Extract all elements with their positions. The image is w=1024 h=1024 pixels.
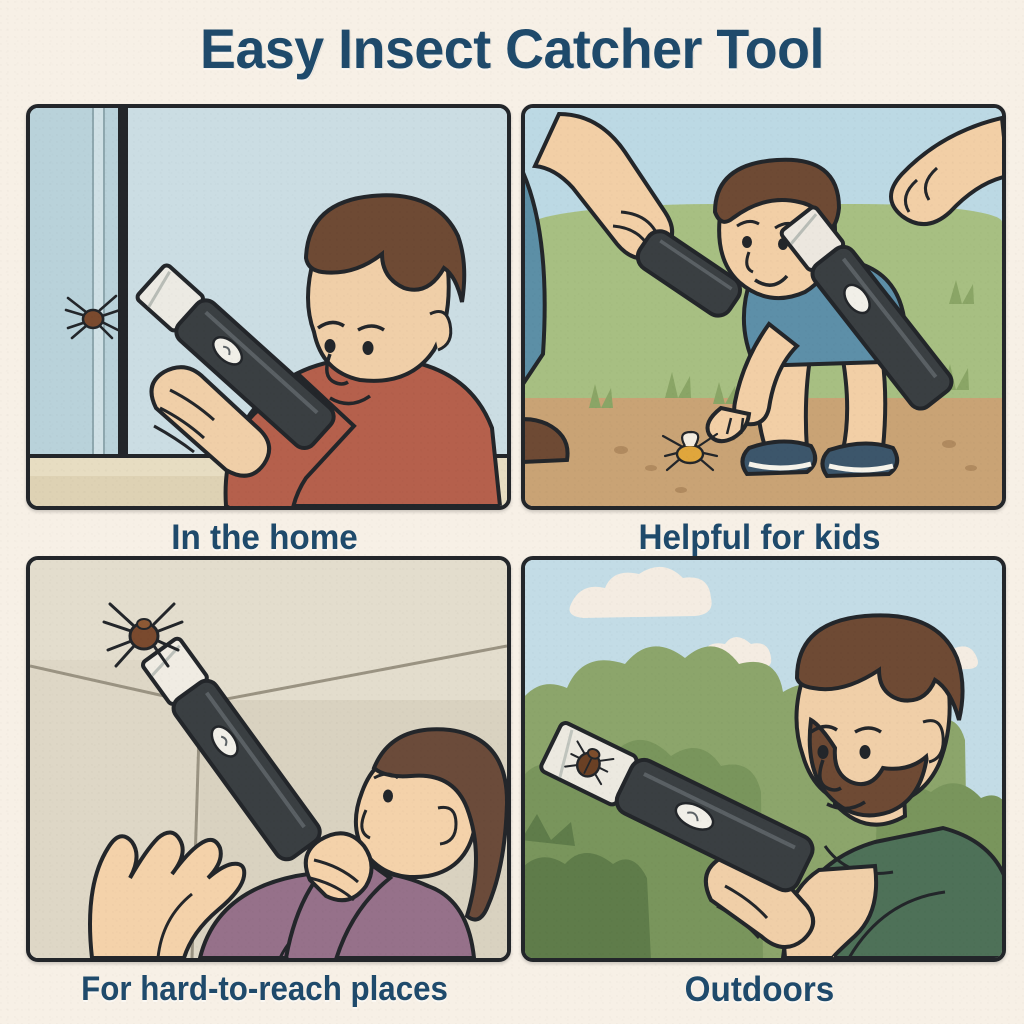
panel-image-for-hard-to-reach-places: [26, 556, 511, 962]
panel-grid: In the home: [0, 96, 1024, 1024]
ground-insect: [663, 432, 717, 470]
infographic-root: Easy Insect Catcher Tool: [0, 0, 1024, 1024]
adult-arm-left: [535, 114, 745, 321]
eye-right: [363, 341, 374, 355]
panel2-artwork: [525, 108, 1002, 506]
panel-image-in-the-home: [26, 104, 511, 510]
adult-leg: [525, 168, 568, 464]
panel-caption-outdoors: Outdoors: [533, 972, 986, 1009]
panel-caption-in-the-home: In the home: [38, 520, 491, 557]
panel4-artwork: [525, 560, 1002, 958]
eye: [383, 790, 393, 803]
panel3-artwork: [30, 560, 507, 958]
panel-caption-helpful-for-kids: Helpful for kids: [533, 520, 986, 557]
panel-caption-for-hard-to-reach-places: For hard-to-reach places: [45, 972, 484, 1008]
eye-left: [818, 745, 829, 759]
eye-left: [325, 339, 336, 353]
insect-catcher-tool: [139, 636, 324, 864]
tool-body: [169, 676, 325, 864]
page-title: Easy Insect Catcher Tool: [20, 16, 1003, 81]
panel-in-the-home[interactable]: In the home: [26, 104, 511, 557]
panel-helpful-for-kids[interactable]: Helpful for kids: [521, 104, 1006, 557]
panel1-artwork: [30, 108, 507, 506]
panel-for-hard-to-reach-places[interactable]: For hard-to-reach places: [26, 556, 511, 1008]
eye-right: [860, 745, 871, 759]
panel-image-outdoors: [521, 556, 1006, 962]
panel-outdoors[interactable]: Outdoors: [521, 556, 1006, 1009]
panel-image-helpful-for-kids: [521, 104, 1006, 510]
spider: [66, 296, 120, 338]
adult-shoe: [525, 419, 568, 464]
